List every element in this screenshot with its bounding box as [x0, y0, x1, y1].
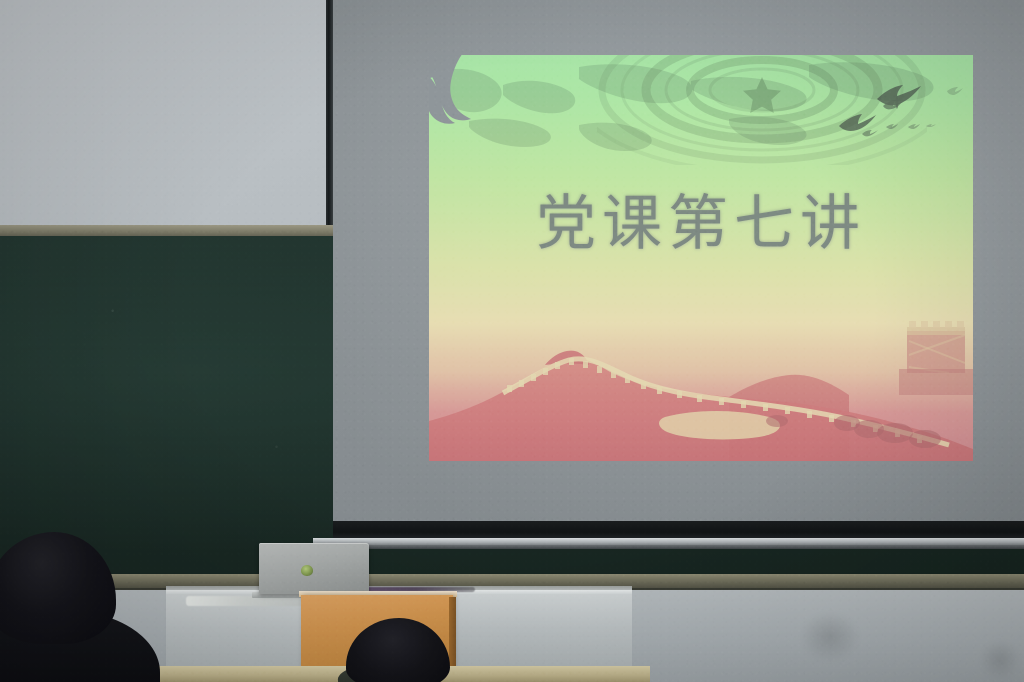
classroom-photo: 党课第七讲	[0, 0, 1024, 682]
slide-title: 党课第七讲	[429, 193, 973, 256]
wall-stain	[800, 612, 860, 662]
wall-seam-shadow	[326, 0, 333, 232]
screen-bottom-rail-shadow	[313, 545, 1024, 549]
wall-stain	[980, 640, 1020, 680]
projected-slide: 党课第七讲	[429, 55, 973, 461]
laptop-logo-icon	[301, 565, 313, 576]
audience-member-center-hair	[346, 618, 450, 682]
five-point-star-icon	[743, 77, 781, 113]
great-wall-silhouette-icon	[429, 311, 973, 461]
flying-birds-icon	[829, 69, 969, 159]
projection-corner-mask	[429, 55, 547, 163]
audience-member-left	[0, 532, 160, 682]
watch-tower-icon	[899, 321, 973, 395]
audience-member-center	[338, 618, 458, 682]
screen-bottom-rail	[313, 538, 1024, 545]
audience-member-left-hair	[0, 532, 116, 644]
laptop[interactable]	[259, 543, 369, 594]
